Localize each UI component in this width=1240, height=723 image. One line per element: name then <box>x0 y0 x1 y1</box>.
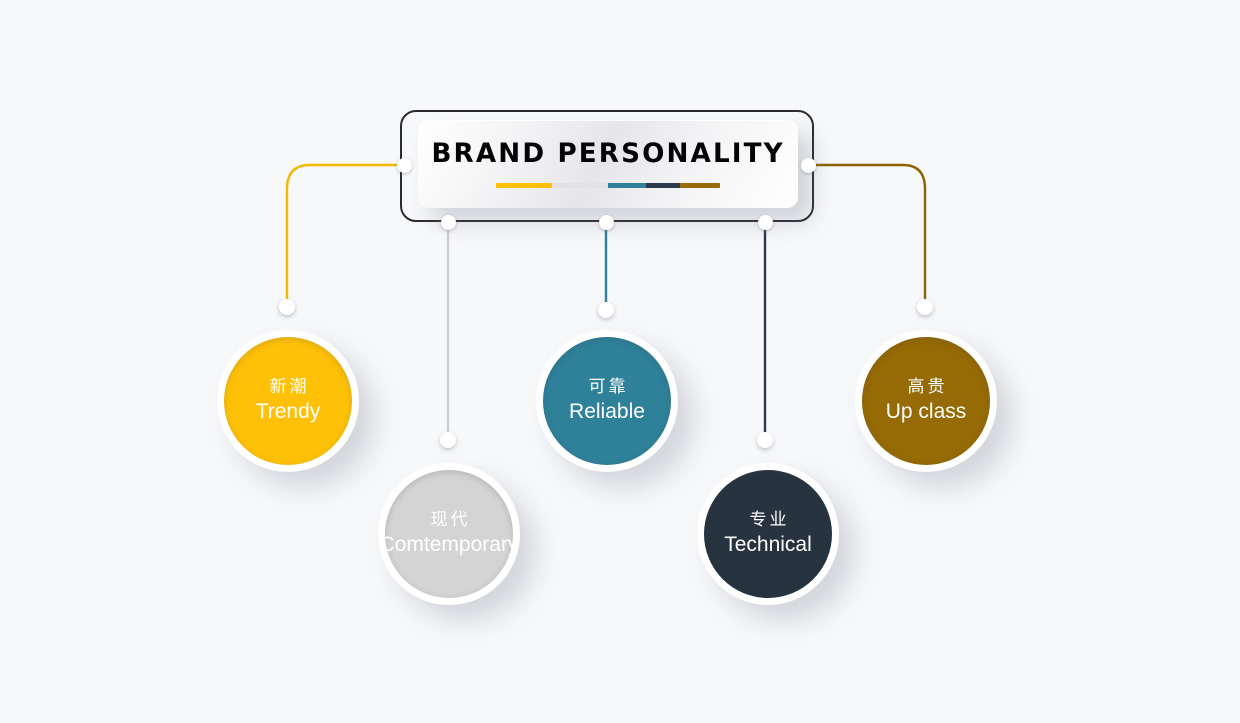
node-trendy-label-en: Trendy <box>256 399 321 425</box>
page-title: BRAND PERSONALITY <box>431 140 784 167</box>
node-reliable-label-cn: 可靠 <box>586 376 629 399</box>
anchor-dot-right <box>801 158 816 173</box>
accent-bronze <box>680 183 720 188</box>
node-technical-label-cn: 专业 <box>747 509 790 532</box>
accent-bar <box>496 183 720 188</box>
end-dot-contemporary <box>440 432 456 448</box>
accent-teal <box>608 183 646 188</box>
end-dot-reliable <box>598 302 614 318</box>
anchor-dot-bottom-2 <box>599 215 614 230</box>
node-upclass-label-cn: 高贵 <box>905 376 948 399</box>
anchor-dot-bottom-1 <box>441 215 456 230</box>
node-upclass-label-en: Up class <box>886 399 967 425</box>
node-trendy-fill: 新潮 Trendy <box>224 337 352 465</box>
node-contemporary-label-en: Comtemporary <box>380 532 519 558</box>
node-upclass-fill: 高贵 Up class <box>862 337 990 465</box>
node-reliable-label-en: Reliable <box>569 399 645 425</box>
node-contemporary-label-cn: 现代 <box>428 509 471 532</box>
node-technical-label-en: Technical <box>724 532 812 558</box>
end-dot-trendy <box>279 299 295 315</box>
node-technical[interactable]: 专业 Technical <box>697 463 839 605</box>
accent-yellow <box>496 183 552 188</box>
accent-navy <box>646 183 680 188</box>
end-dot-technical <box>757 432 773 448</box>
node-contemporary[interactable]: 现代 Comtemporary <box>378 463 520 605</box>
brand-personality-diagram: BRAND PERSONALITY 新潮 Trendy 现代 Comtempor… <box>0 0 1240 723</box>
anchor-dot-left <box>397 158 412 173</box>
node-trendy-label-cn: 新潮 <box>267 376 310 399</box>
end-dot-upclass <box>917 299 933 315</box>
node-contemporary-fill: 现代 Comtemporary <box>385 470 513 598</box>
node-reliable-fill: 可靠 Reliable <box>543 337 671 465</box>
node-upclass[interactable]: 高贵 Up class <box>855 330 997 472</box>
connector-line-trendy <box>287 165 404 305</box>
node-technical-fill: 专业 Technical <box>704 470 832 598</box>
node-reliable[interactable]: 可靠 Reliable <box>536 330 678 472</box>
accent-gray <box>552 183 608 188</box>
anchor-dot-bottom-3 <box>758 215 773 230</box>
node-trendy[interactable]: 新潮 Trendy <box>217 330 359 472</box>
connector-line-upclass <box>810 165 925 305</box>
title-card: BRAND PERSONALITY <box>418 120 798 208</box>
